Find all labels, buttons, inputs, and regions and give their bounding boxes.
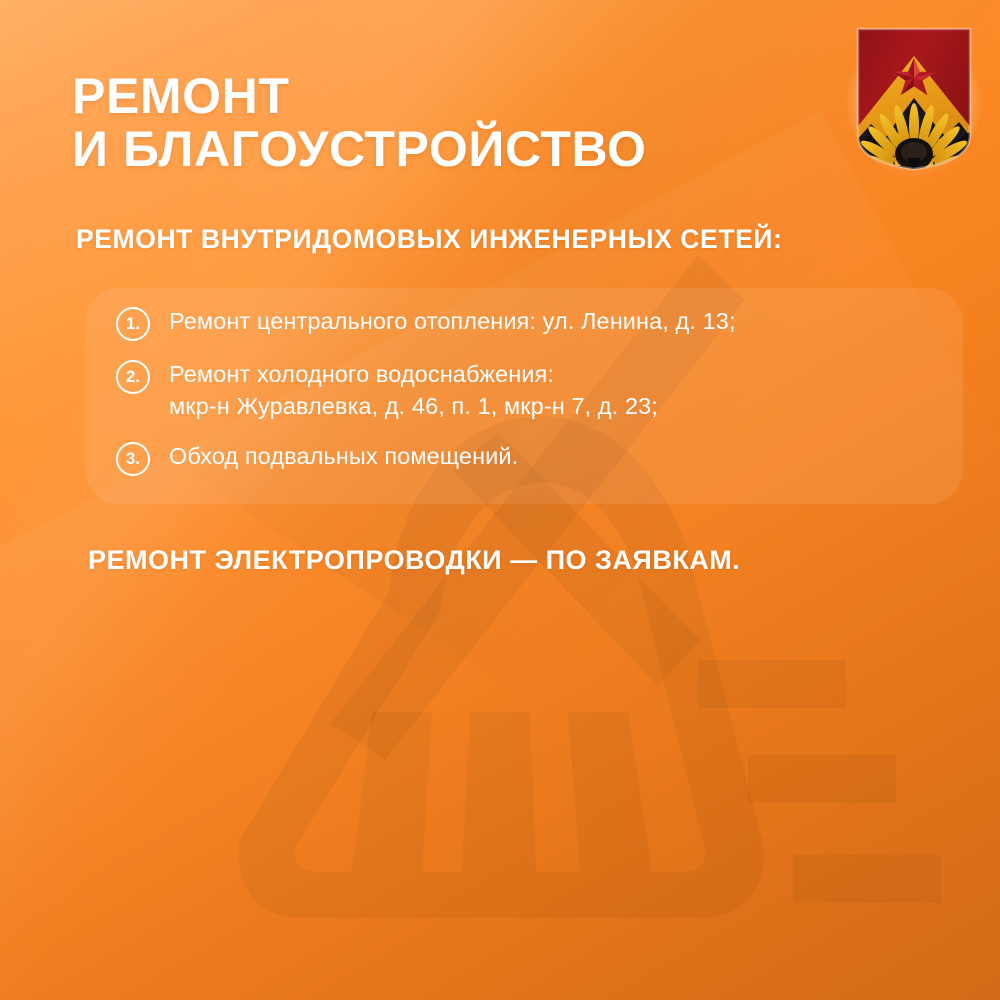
- list-item-text: Ремонт центрального отопления: ул. Ленин…: [169, 305, 736, 337]
- poster-canvas: РЕМОНТ И БЛАГОУСТРОЙСТВО РЕМОНТ ВНУТРИДО…: [0, 0, 1000, 1000]
- list-item: 3. Обход подвальных помещений.: [116, 440, 956, 476]
- list-item: 1. Ремонт центрального отопления: ул. Ле…: [116, 305, 956, 341]
- list-item: 2. Ремонт холодного водоснабжения: мкр-н…: [116, 358, 956, 423]
- decorative-rectangle: [793, 855, 941, 903]
- decorative-rectangle: [748, 755, 896, 803]
- list-item-number-badge: 2.: [116, 360, 150, 394]
- poster-title: РЕМОНТ И БЛАГОУСТРОЙСТВО: [72, 72, 832, 174]
- list-item-number-badge: 1.: [116, 307, 150, 341]
- coat-of-arms: [855, 26, 973, 172]
- list-item-line: Ремонт центрального отопления: ул. Ленин…: [169, 305, 736, 337]
- footer-note: РЕМОНТ ЭЛЕКТРОПРОВОДКИ — ПО ЗАЯВКАМ.: [88, 545, 740, 576]
- section-heading: РЕМОНТ ВНУТРИДОМОВЫХ ИНЖЕНЕРНЫХ СЕТЕЙ:: [76, 224, 782, 255]
- list-item-line: мкр-н Журавлевка, д. 46, п. 1, мкр-н 7, …: [169, 390, 658, 422]
- title-line-1: РЕМОНТ: [72, 72, 832, 122]
- list-item-number-badge: 3.: [116, 442, 150, 476]
- list-item-line: Ремонт холодного водоснабжения:: [169, 358, 658, 390]
- decorative-rectangle: [698, 660, 846, 708]
- list-item-text: Ремонт холодного водоснабжения: мкр-н Жу…: [169, 358, 658, 423]
- list-item-text: Обход подвальных помещений.: [169, 440, 518, 472]
- numbered-list: 1. Ремонт центрального отопления: ул. Ле…: [116, 305, 956, 476]
- title-line-2: И БЛАГОУСТРОЙСТВО: [72, 125, 832, 175]
- list-item-line: Обход подвальных помещений.: [169, 440, 518, 472]
